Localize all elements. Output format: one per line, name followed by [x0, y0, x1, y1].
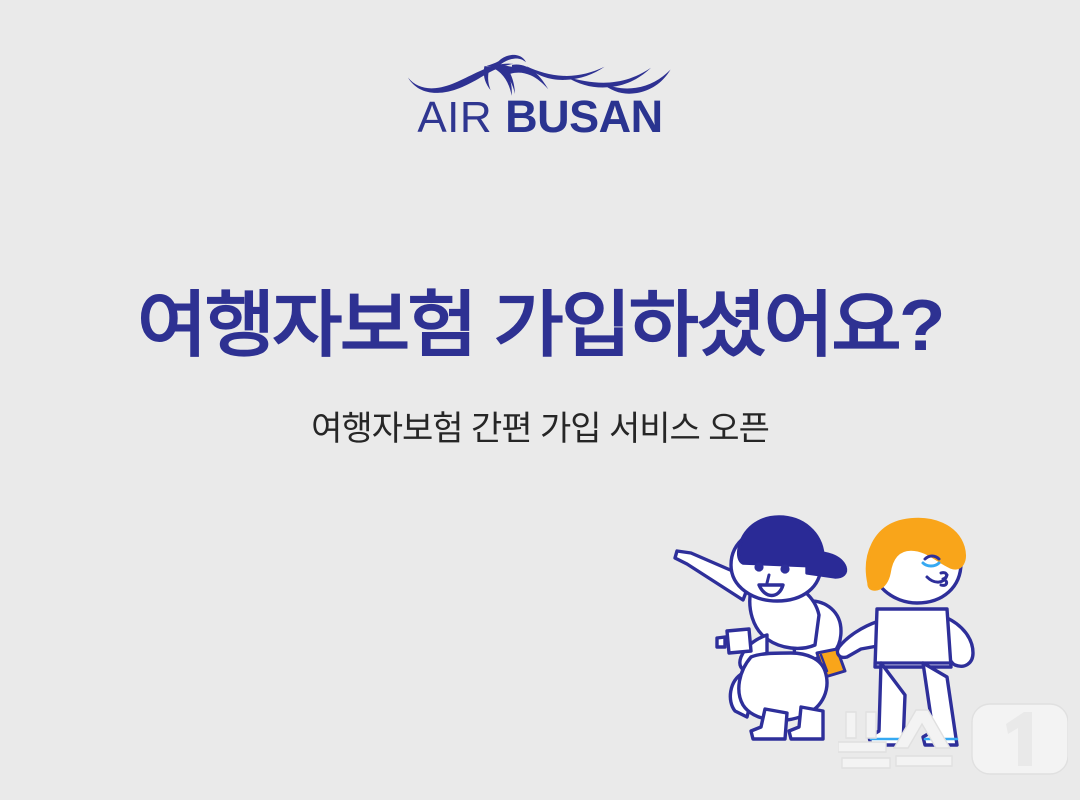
air-busan-logo: AIR BUSAN	[0, 50, 1080, 140]
brand-wordmark: AIR BUSAN	[417, 94, 662, 140]
character-pointing-with-cap	[675, 517, 846, 739]
bird-swoosh-icon	[406, 50, 674, 96]
brand-word-air: AIR	[417, 96, 492, 140]
promo-canvas: AIR BUSAN 여행자보험 가입하셨어요? 여행자보험 간편 가입 서비스 …	[0, 0, 1080, 800]
character-orange-hair	[837, 519, 973, 745]
headline-title: 여행자보험 가입하셨어요?	[0, 289, 1080, 364]
two-characters-illustration	[655, 505, 1055, 775]
illustration-svg	[655, 505, 1055, 775]
brand-word-busan: BUSAN	[505, 94, 663, 139]
subtitle-text: 여행자보험 간편 가입 서비스 오픈	[0, 408, 1080, 451]
